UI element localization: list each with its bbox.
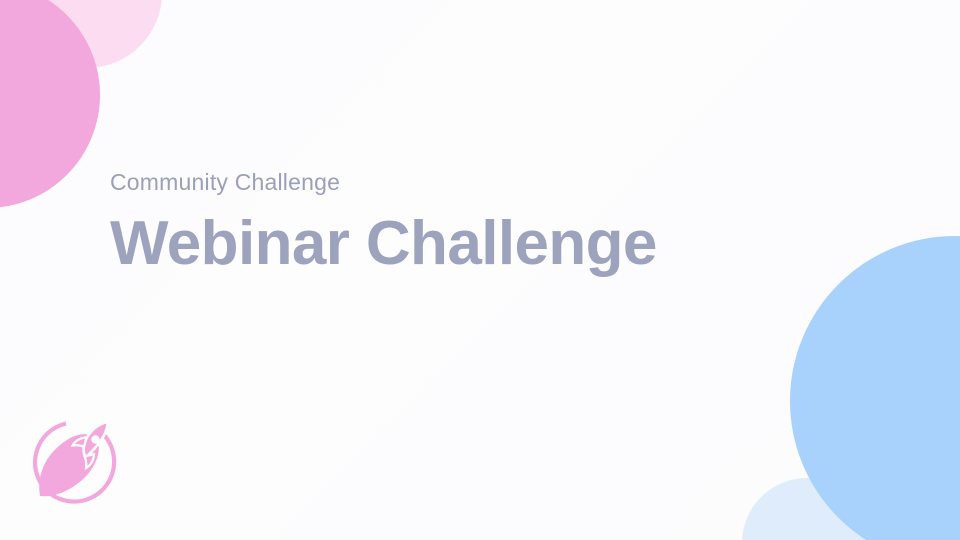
slide-text-block: Community Challenge Webinar Challenge [110,168,850,276]
pink-light-circle-decoration [12,0,162,68]
rocket-circle-logo-icon [22,410,126,514]
slide-headline: Webinar Challenge [110,211,850,277]
slide-eyebrow: Community Challenge [110,168,850,197]
pink-main-circle-decoration [0,0,100,208]
rocket-circle-logo-svg [22,410,126,514]
blue-light-circle-decoration [742,478,872,540]
slide-canvas: Community Challenge Webinar Challenge [0,0,960,540]
blue-main-circle-decoration [790,236,960,540]
